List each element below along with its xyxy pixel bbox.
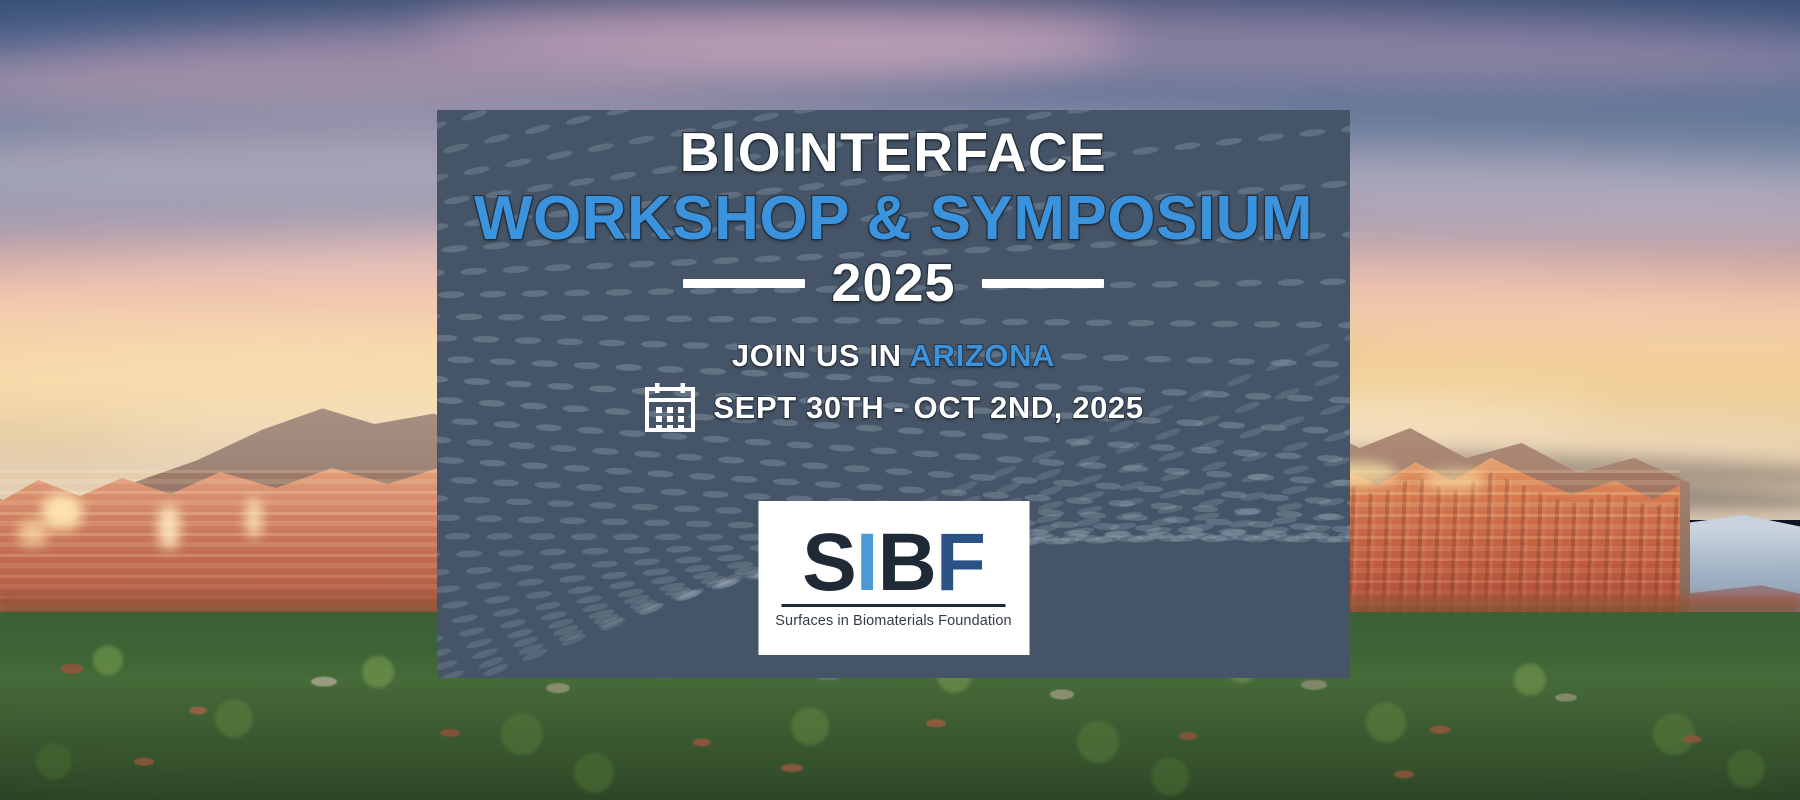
logo-letter-s: S	[802, 525, 856, 600]
sunlit-butte-highlight	[1424, 470, 1484, 490]
sibf-logo-letters: SIBF	[802, 525, 985, 600]
event-location-line: JOIN US IN ARIZONA	[437, 338, 1350, 374]
event-location: ARIZONA	[910, 338, 1055, 373]
sunlit-spire-highlight	[246, 498, 262, 538]
event-date-row: SEPT 30TH - OCT 2ND, 2025	[437, 382, 1350, 434]
logo-tagline: Surfaces in Biomaterials Foundation	[775, 613, 1011, 629]
join-us-prefix: JOIN US IN	[732, 338, 910, 373]
event-info-card: BIOINTERFACE WORKSHOP & SYMPOSIUM 2025 J…	[437, 110, 1350, 678]
sunlit-spire-highlight	[18, 520, 48, 546]
event-title-secondary: WORKSHOP & SYMPOSIUM	[437, 188, 1350, 250]
event-year: 2025	[831, 256, 955, 310]
logo-divider	[782, 604, 1006, 607]
sunlit-spire-highlight	[42, 494, 82, 530]
event-date: SEPT 30TH - OCT 2ND, 2025	[713, 390, 1143, 426]
year-rule-right	[982, 279, 1104, 288]
logo-letter-b: B	[878, 525, 936, 600]
event-year-row: 2025	[437, 256, 1350, 310]
event-banner: BIOINTERFACE WORKSHOP & SYMPOSIUM 2025 J…	[0, 0, 1800, 800]
logo-letter-i: I	[856, 525, 878, 600]
sunlit-spire-highlight	[158, 505, 180, 549]
year-rule-left	[683, 279, 805, 288]
sibf-logo: SIBF Surfaces in Biomaterials Foundation	[758, 501, 1029, 655]
calendar-icon	[643, 382, 697, 434]
event-title-primary: BIOINTERFACE	[437, 125, 1350, 180]
logo-letter-f: F	[936, 525, 985, 600]
